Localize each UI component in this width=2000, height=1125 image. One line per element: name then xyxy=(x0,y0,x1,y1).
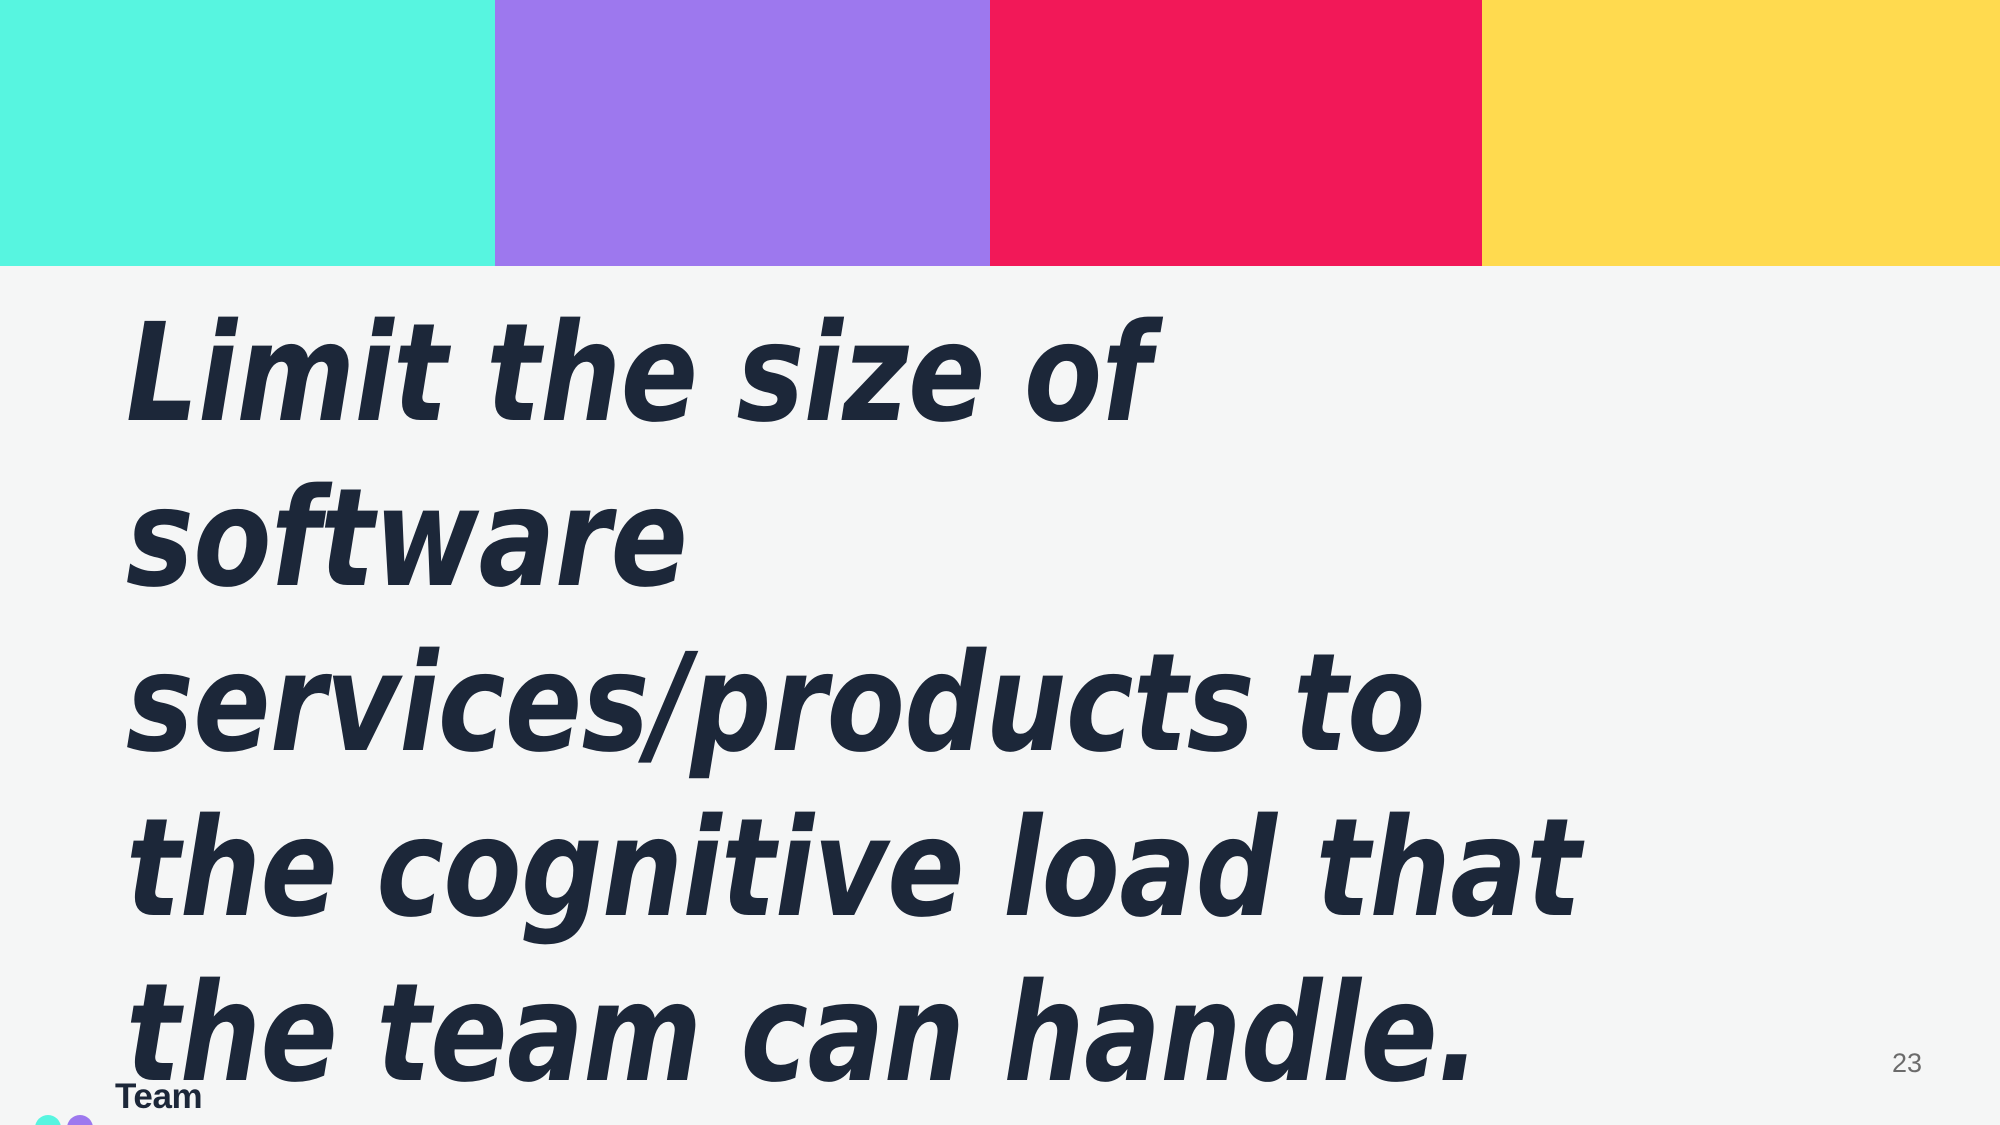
top-color-band xyxy=(0,0,2000,266)
logo-wordmark-line-1: Team xyxy=(115,1078,295,1116)
team-topologies-logo: Team Topologies xyxy=(35,1002,295,1125)
logo-block-teal-top-left xyxy=(35,1115,61,1125)
color-stripe-purple xyxy=(495,0,990,266)
team-topologies-logo-mark-icon xyxy=(35,1115,97,1125)
color-stripe-pink xyxy=(990,0,1482,266)
color-stripe-yellow xyxy=(1482,0,2000,266)
slide-canvas: Limit the size of software services/prod… xyxy=(0,0,2000,1125)
logo-wordmark: Team Topologies xyxy=(115,1002,295,1125)
logo-block-purple-top-right xyxy=(67,1115,93,1125)
slide-headline: Limit the size of software services/prod… xyxy=(126,292,1670,1117)
color-stripe-teal xyxy=(0,0,495,266)
page-number: 23 xyxy=(1892,1048,1922,1079)
